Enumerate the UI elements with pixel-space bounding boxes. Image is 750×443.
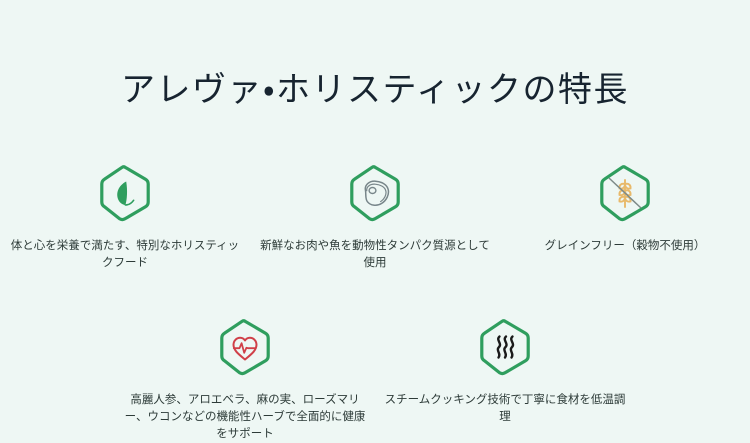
feature-item-steam-cooking: スチームクッキング技術で丁寧に食材を低温調理 xyxy=(375,318,635,443)
feature-row-top: 体と心を栄養で満たす、特別なホリスティックフード 新鮮なお肉や魚を動物性タンパク… xyxy=(0,164,750,272)
page-title: アレヴァ・ホリスティックの特長 xyxy=(0,67,750,113)
feature-caption: 体と心を栄養で満たす、特別なホリスティックフード xyxy=(6,238,244,272)
hexagon-meat-icon xyxy=(348,164,402,222)
feature-caption: グレインフリー（穀物不使用） xyxy=(545,238,706,255)
hexagon-leaf-icon xyxy=(98,164,152,222)
hexagon-steam-icon xyxy=(478,318,532,376)
feature-item-grain-free: グレインフリー（穀物不使用） xyxy=(500,164,750,272)
hexagon-heart-pulse-icon xyxy=(218,318,272,376)
hexagon-no-grain-icon xyxy=(598,164,652,222)
feature-highlights-page: アレヴァ・ホリスティックの特長 体と心を栄養で満たす、特別なホリスティックフード xyxy=(0,0,750,437)
feature-caption: スチームクッキング技術で丁寧に食材を低温調理 xyxy=(381,392,629,426)
feature-caption: 高麗人参、アロエベラ、麻の実、ローズマリー、ウコンなどの機能性ハーブで全面的に健… xyxy=(121,392,369,443)
feature-item-functional-herbs: 高麗人参、アロエベラ、麻の実、ローズマリー、ウコンなどの機能性ハーブで全面的に健… xyxy=(115,318,375,443)
feature-item-holistic-food: 体と心を栄養で満たす、特別なホリスティックフード xyxy=(0,164,250,272)
feature-item-animal-protein: 新鮮なお肉や魚を動物性タンパク質源として使用 xyxy=(250,164,500,272)
feature-row-bottom: 高麗人参、アロエベラ、麻の実、ローズマリー、ウコンなどの機能性ハーブで全面的に健… xyxy=(0,318,750,443)
features-grid: 体と心を栄養で満たす、特別なホリスティックフード 新鮮なお肉や魚を動物性タンパク… xyxy=(0,164,750,443)
feature-caption: 新鮮なお肉や魚を動物性タンパク質源として使用 xyxy=(256,238,494,272)
